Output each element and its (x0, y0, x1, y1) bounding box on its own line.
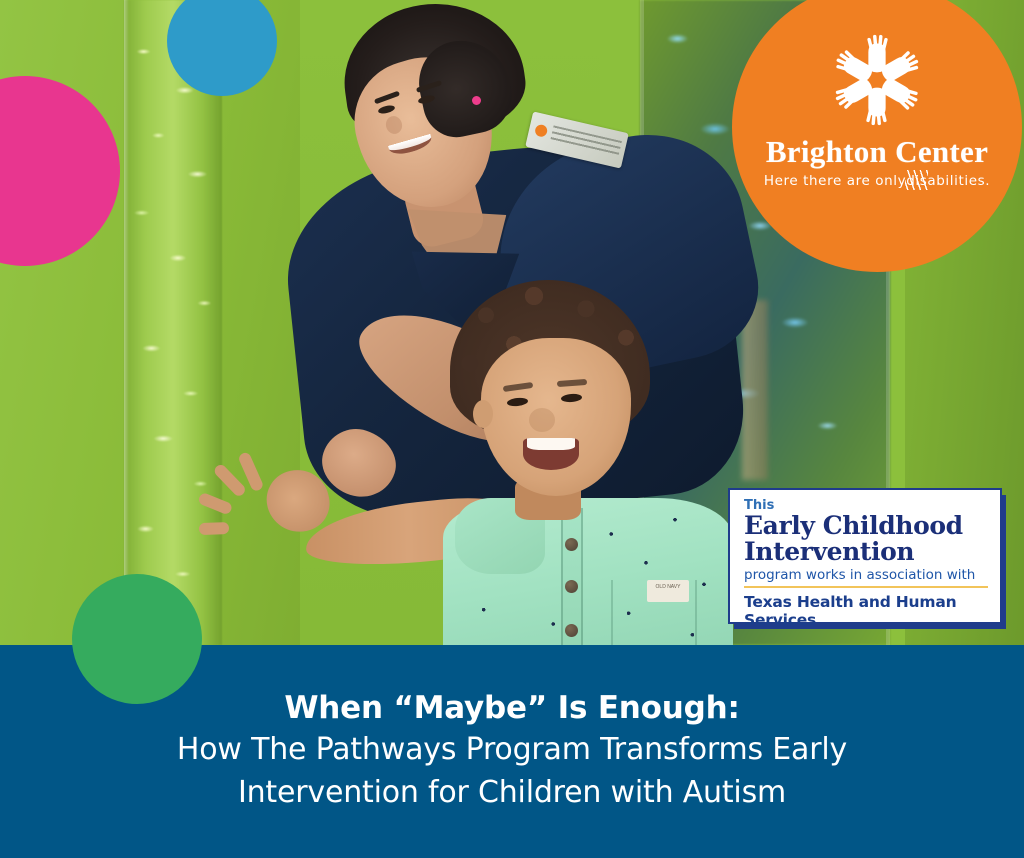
child-shirt-button (565, 624, 578, 637)
poster-graphic: OLD NAVY (0, 0, 1024, 858)
green-circle (72, 574, 202, 704)
eci-title-line-2: Intervention (744, 539, 988, 566)
article-title-line-3: Intervention for Children with Autism (238, 772, 786, 815)
child-finger (199, 522, 229, 535)
eci-subtitle: program works in association with (744, 568, 988, 583)
green-bubble-tube-edge (124, 0, 129, 645)
child-face (481, 338, 631, 496)
therapist-earring (472, 96, 481, 105)
child-nose (529, 408, 555, 432)
child-shirt-tag: OLD NAVY (647, 580, 689, 602)
green-bubble-tube (124, 0, 222, 645)
child-shirt-button (565, 538, 578, 551)
logo-tagline: Here there are only disabilities. (764, 173, 990, 189)
child-ear (473, 400, 493, 428)
article-title-line-2: How The Pathways Program Transforms Earl… (177, 729, 847, 772)
hands-circle-icon (829, 32, 925, 128)
child-mouth (523, 438, 579, 470)
eci-title-line-1: Early Childhood (744, 513, 988, 540)
eci-partner-name: Texas Health and Human Services (744, 593, 988, 629)
article-title-line-1: When “Maybe” Is Enough: (284, 688, 739, 729)
eci-divider-rule (744, 586, 988, 588)
tagline-struck-dis: dis (906, 173, 927, 189)
tagline-before: Here there are only (764, 173, 906, 189)
logo-wordmark: Brighton Center (766, 134, 988, 170)
child-shirt-button (565, 580, 578, 593)
child-teeth (527, 438, 575, 450)
eci-partnership-badge: This Early Childhood Intervention progra… (728, 488, 1002, 624)
tagline-after: abilities. (927, 173, 990, 189)
